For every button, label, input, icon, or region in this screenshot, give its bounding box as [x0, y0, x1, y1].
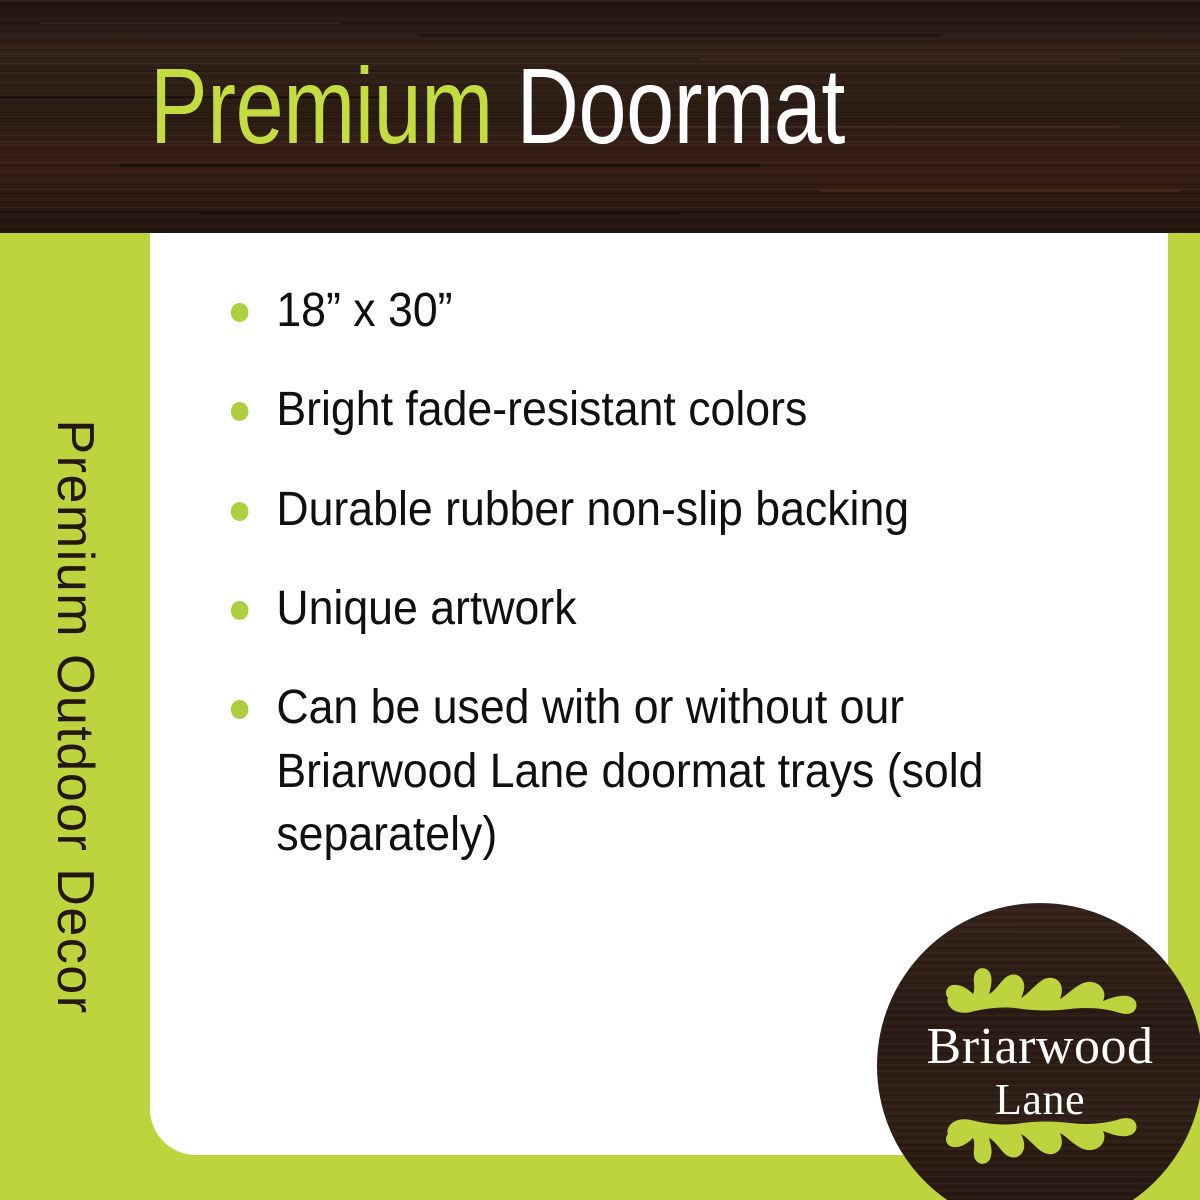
- bullet-dot-icon: [231, 502, 249, 521]
- bullet-dot-icon: [231, 601, 249, 620]
- list-item-label: 18” x 30”: [276, 284, 452, 337]
- page-title-main: Doormat: [516, 45, 845, 166]
- list-item-label: Can be used with or without our Briarwoo…: [276, 681, 983, 861]
- bullet-dot-icon: [231, 700, 249, 719]
- page-title: Premium Doormat: [150, 52, 950, 160]
- list-item: Bright fade-resistant colors: [228, 378, 1065, 441]
- list-item-label: Durable rubber non-slip backing: [276, 483, 909, 536]
- page-title-accent: Premium: [150, 45, 493, 166]
- wood-grain-line: [40, 22, 340, 24]
- list-item-label: Bright fade-resistant colors: [276, 383, 807, 436]
- sidebar-vertical-banner: Premium Outdoor Decor: [0, 233, 150, 1200]
- bullet-dot-icon: [231, 402, 249, 421]
- page-title-space: [493, 45, 517, 166]
- header-band: Premium Doormat: [0, 0, 1200, 233]
- sidebar-label: Premium Outdoor Decor: [45, 419, 105, 1014]
- list-item: 18” x 30”: [228, 279, 1065, 342]
- wood-grain-line: [200, 212, 680, 215]
- product-infographic: Premium Doormat 18” x 30” Bright fade-re…: [0, 0, 1200, 1200]
- list-item: Can be used with or without our Briarwoo…: [228, 676, 1065, 866]
- feature-list: 18” x 30” Bright fade-resistant colors D…: [228, 279, 1128, 867]
- list-item-label: Unique artwork: [276, 582, 576, 635]
- brand-name: Briarwood: [877, 1021, 1200, 1073]
- list-item: Unique artwork: [228, 577, 1065, 640]
- brand-logo-text: Briarwood Lane: [877, 1021, 1200, 1127]
- bullet-dot-icon: [231, 303, 249, 322]
- wood-grain-line: [420, 34, 940, 37]
- list-item: Durable rubber non-slip backing: [228, 478, 1065, 541]
- wood-grain-line: [820, 190, 1180, 192]
- oak-leaf-icon: [942, 1115, 1138, 1181]
- oak-leaf-icon: [942, 951, 1138, 1017]
